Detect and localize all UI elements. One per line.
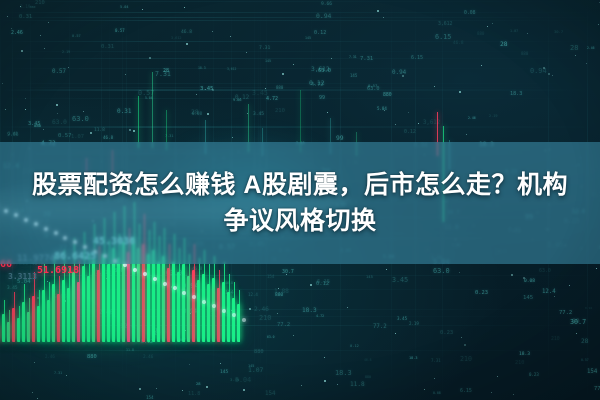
vignette-overlay [0, 0, 600, 400]
news-thumbnail-image: 2100.1288063.00.577.310.239.667.3130.714… [0, 0, 600, 400]
